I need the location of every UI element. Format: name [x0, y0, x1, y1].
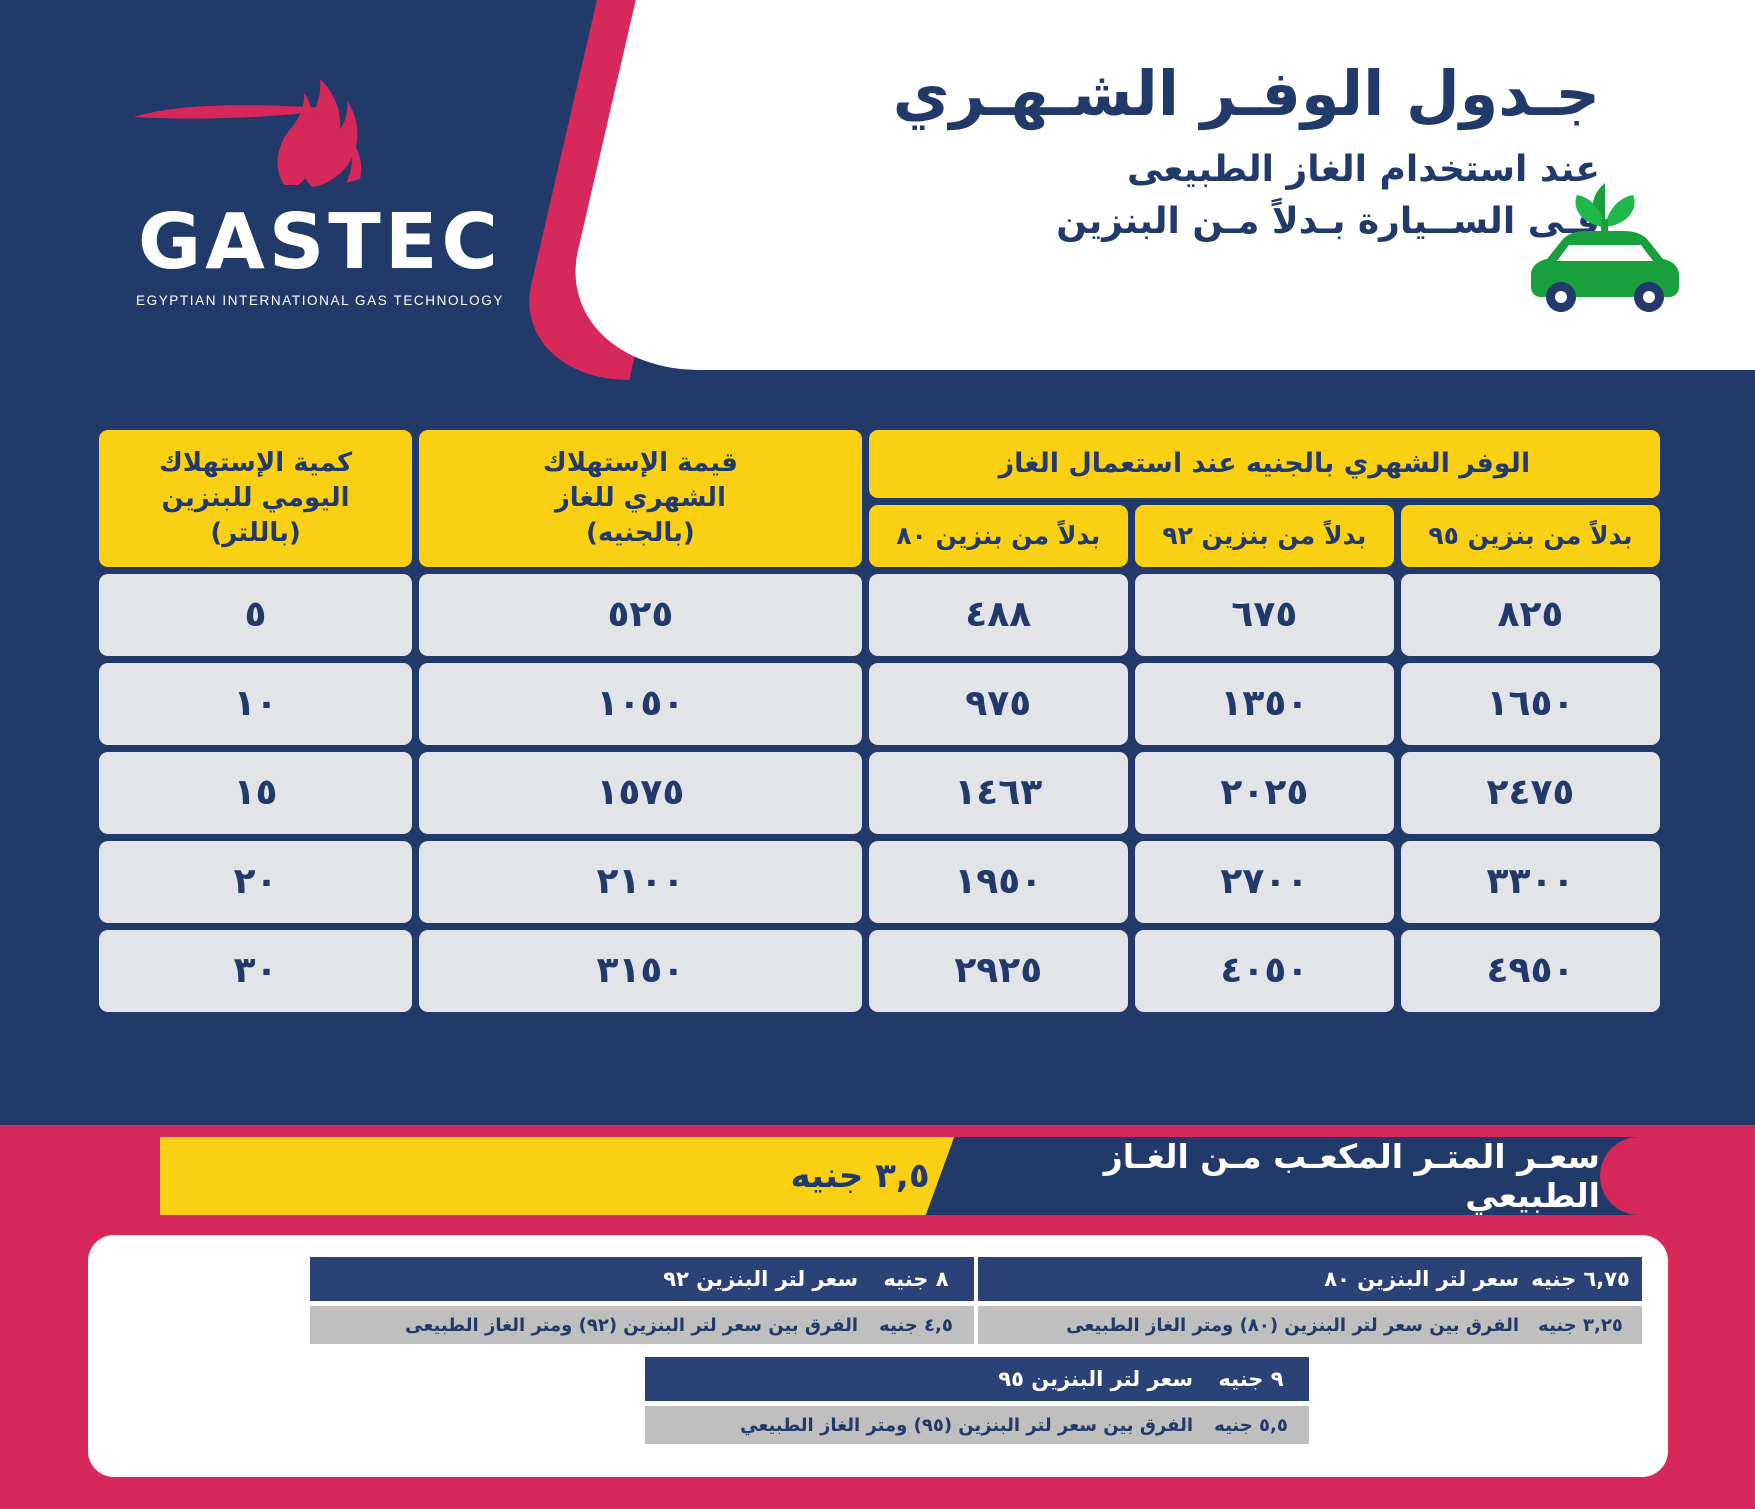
cell-save95: ٣٣٠٠	[1401, 841, 1660, 923]
header-instead-of-80: بدلاً من بنزين ٨٠	[869, 505, 1128, 567]
header-instead-of-95: بدلاً من بنزين ٩٥	[1401, 505, 1660, 567]
savings-table: الوفر الشهري بالجنيه عند استعمال الغاز ق…	[92, 423, 1667, 1019]
petrol-95-price-label: سعر لتر البنزين ٩٥	[645, 1357, 1193, 1401]
cell-save95: ١٦٥٠	[1401, 663, 1660, 745]
cell-save80: ١٤٦٣	[869, 752, 1128, 834]
petrol-80-diff-value: ٣,٢٥ جنيه	[1519, 1306, 1644, 1344]
table-row: ٨٢٥ ٦٧٥ ٤٨٨ ٥٢٥ ٥	[99, 574, 1660, 656]
petrol-80-price-label: سعر لتر البنزين ٨٠	[909, 1257, 1519, 1301]
cell-save92: ٢٧٠٠	[1135, 841, 1394, 923]
header-petrol-line1: كمية الإستهلاك	[107, 446, 404, 481]
cell-save92: ٢٠٢٥	[1135, 752, 1394, 834]
petrol-92-price-label: سعر لتر البنزين ٩٢	[310, 1257, 858, 1301]
eco-car-icon	[1505, 175, 1705, 315]
header-gas-cost: قيمة الإستهلاك الشهري للغاز (بالجنيه)	[419, 430, 862, 567]
logo-swash-icon	[132, 101, 342, 123]
header-petrol-qty: كمية الإستهلاك اليومي للبنزين (باللتر)	[99, 430, 412, 567]
cell-petrol-liters: ٣٠	[99, 930, 412, 1012]
page-subtitle-line2: فـى الســيارة بـدلاً مـن البنزين	[640, 197, 1600, 247]
logo-tagline: EGYPTIAN INTERNATIONAL GAS TECHNOLOGY	[110, 293, 530, 308]
cell-gas-cost: ١٠٥٠	[419, 663, 862, 745]
gas-price-value: ٣,٥ جنيه	[760, 1137, 960, 1215]
table-row: ٢٤٧٥ ٢٠٢٥ ١٤٦٣ ١٥٧٥ ١٥	[99, 752, 1660, 834]
table-header-row-1: الوفر الشهري بالجنيه عند استعمال الغاز ق…	[99, 430, 1660, 498]
cell-gas-cost: ٢١٠٠	[419, 841, 862, 923]
petrol-92-diff-value: ٤,٥ جنيه	[858, 1306, 976, 1344]
petrol-92-price-value: ٨ جنيه	[858, 1257, 976, 1301]
header-petrol-line3: (باللتر)	[107, 516, 404, 551]
header-banner: GASTEC EGYPTIAN INTERNATIONAL GAS TECHNO…	[0, 0, 1755, 400]
cell-petrol-liters: ٥	[99, 574, 412, 656]
cell-gas-cost: ٥٢٥	[419, 574, 862, 656]
price-box-petrol-92: ٨ جنيه سعر لتر البنزين ٩٢ ٤,٥ جنيه الفرق…	[310, 1257, 978, 1344]
cell-save80: ٤٨٨	[869, 574, 1128, 656]
cell-petrol-liters: ١٥	[99, 752, 412, 834]
savings-table-area: الوفر الشهري بالجنيه عند استعمال الغاز ق…	[0, 405, 1755, 1125]
price-box-petrol-95: ٩ جنيه سعر لتر البنزين ٩٥ ٥,٥ جنيه الفرق…	[645, 1357, 1313, 1444]
cell-gas-cost: ١٥٧٥	[419, 752, 862, 834]
gastec-logo: GASTEC EGYPTIAN INTERNATIONAL GAS TECHNO…	[110, 55, 530, 308]
table-row: ١٦٥٠ ١٣٥٠ ٩٧٥ ١٠٥٠ ١٠	[99, 663, 1660, 745]
page-title: جـدول الوفـر الشـهـري	[640, 58, 1600, 129]
cell-save92: ٦٧٥	[1135, 574, 1394, 656]
cell-save80: ٢٩٢٥	[869, 930, 1128, 1012]
cell-gas-cost: ٣١٥٠	[419, 930, 862, 1012]
table-row: ٣٣٠٠ ٢٧٠٠ ١٩٥٠ ٢١٠٠ ٢٠	[99, 841, 1660, 923]
cell-petrol-liters: ٢٠	[99, 841, 412, 923]
header-savings-group: الوفر الشهري بالجنيه عند استعمال الغاز	[869, 430, 1660, 498]
cell-save80: ١٩٥٠	[869, 841, 1128, 923]
title-block: جـدول الوفـر الشـهـري عند استخدام الغاز …	[640, 58, 1600, 247]
page-subtitle-line1: عند استخدام الغاز الطبيعى	[640, 145, 1600, 195]
cell-petrol-liters: ١٠	[99, 663, 412, 745]
header-petrol-line2: اليومي للبنزين	[107, 481, 404, 516]
cell-save80: ٩٧٥	[869, 663, 1128, 745]
petrol-95-price-value: ٩ جنيه	[1193, 1357, 1311, 1401]
cell-save95: ٢٤٧٥	[1401, 752, 1660, 834]
header-gas-cost-line3: (بالجنيه)	[427, 516, 854, 551]
cell-save92: ٤٠٥٠	[1135, 930, 1394, 1012]
header-gas-cost-line2: الشهري للغاز	[427, 481, 854, 516]
table-row: ٤٩٥٠ ٤٠٥٠ ٢٩٢٥ ٣١٥٠ ٣٠	[99, 930, 1660, 1012]
petrol-80-diff-label: الفرق بين سعر لتر البنزين (٨٠) ومتر الغا…	[909, 1306, 1519, 1344]
cell-save95: ٤٩٥٠	[1401, 930, 1660, 1012]
footer-red-band: ٣,٥ جنيه سعـر المتـر المكعـب مـن الغـاز …	[0, 1125, 1755, 1509]
petrol-92-diff-label: الفرق بين سعر لتر البنزين (٩٢) ومتر الغا…	[310, 1306, 858, 1344]
gas-price-band-red-left	[0, 1137, 160, 1215]
infographic-page: GASTEC EGYPTIAN INTERNATIONAL GAS TECHNO…	[0, 0, 1755, 1509]
logo-wordmark: GASTEC	[110, 204, 530, 281]
petrol-95-diff-value: ٥,٥ جنيه	[1193, 1406, 1311, 1444]
gas-price-band-right-cut	[1600, 1137, 1755, 1215]
cell-save92: ١٣٥٠	[1135, 663, 1394, 745]
cell-save95: ٨٢٥	[1401, 574, 1660, 656]
price-card: ٦,٧٥ جنيه سعر لتر البنزين ٨٠ ٣,٢٥ جنيه ا…	[88, 1235, 1668, 1477]
gas-price-label: سعـر المتـر المكعـب مـن الغـاز الطبيعي	[980, 1137, 1600, 1215]
header-gas-cost-line1: قيمة الإستهلاك	[427, 446, 854, 481]
price-box-petrol-80: ٦,٧٥ جنيه سعر لتر البنزين ٨٠ ٣,٢٥ جنيه ا…	[909, 1257, 1646, 1344]
petrol-95-diff-label: الفرق بين سعر لتر البنزين (٩٥) ومتر الغا…	[645, 1406, 1193, 1444]
header-instead-of-92: بدلاً من بنزين ٩٢	[1135, 505, 1394, 567]
petrol-80-price-value: ٦,٧٥ جنيه	[1519, 1257, 1644, 1301]
